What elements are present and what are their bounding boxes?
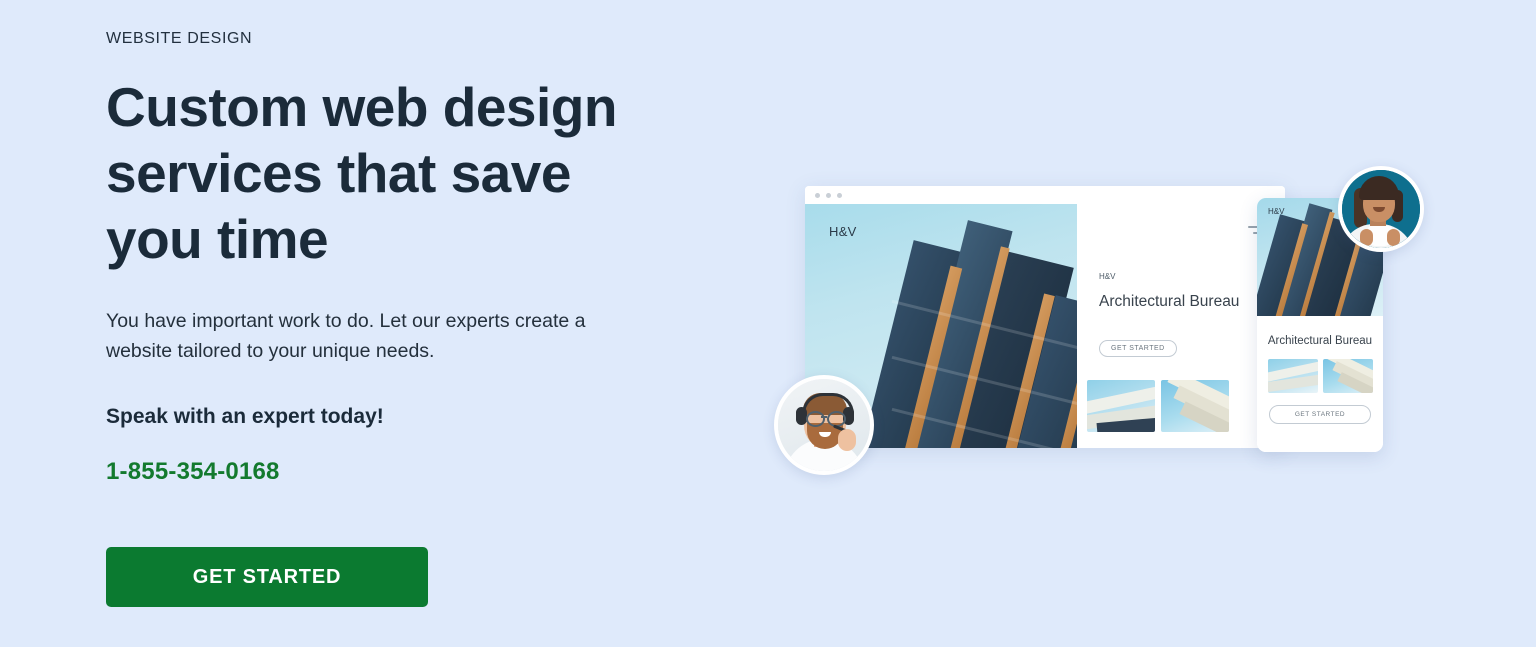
mobile-site-logo: H&V <box>1268 207 1284 216</box>
panel-get-started-button[interactable]: GET STARTED <box>1099 340 1177 357</box>
get-started-button[interactable]: GET STARTED <box>106 547 428 607</box>
mobile-content-panel: Architectural Bureau GET STARTED <box>1257 316 1383 452</box>
support-agent-avatar <box>774 375 874 475</box>
browser-viewport: H&V H&V Architectural Bureau GET STARTED <box>805 204 1285 448</box>
window-dot-icon <box>826 193 831 198</box>
site-logo: H&V <box>829 224 857 239</box>
architecture-thumbnail[interactable] <box>1323 359 1373 393</box>
window-dot-icon <box>815 193 820 198</box>
panel-title: Architectural Bureau <box>1099 292 1249 312</box>
browser-titlebar <box>805 186 1285 204</box>
desktop-browser-mockup: H&V H&V Architectural Bureau GET STARTED <box>805 186 1285 448</box>
architecture-thumbnail[interactable] <box>1087 380 1155 432</box>
window-dot-icon <box>837 193 842 198</box>
hero-subcopy: You have important work to do. Let our e… <box>106 306 606 366</box>
browser-content-panel: H&V Architectural Bureau GET STARTED <box>1077 204 1285 448</box>
mobile-get-started-button[interactable]: GET STARTED <box>1269 405 1371 424</box>
panel-thumbnail-row <box>1087 380 1229 432</box>
phone-number-link[interactable]: 1-855-354-0168 <box>106 457 280 487</box>
panel-logo: H&V <box>1099 272 1115 281</box>
customer-avatar <box>1338 166 1424 252</box>
hero-section: WEBSITE DESIGN Custom web design service… <box>0 0 1536 647</box>
eyebrow-label: WEBSITE DESIGN <box>106 30 726 48</box>
mobile-panel-title: Architectural Bureau <box>1257 316 1383 349</box>
page-title: Custom web design services that save you… <box>106 74 626 272</box>
mockup-group: H&V H&V Architectural Bureau GET STARTED <box>760 150 1460 510</box>
architecture-thumbnail[interactable] <box>1161 380 1229 432</box>
mobile-thumbnail-row <box>1257 359 1383 393</box>
hero-copy: WEBSITE DESIGN Custom web design service… <box>106 30 726 487</box>
speak-with-expert-label: Speak with an expert today! <box>106 403 726 431</box>
architecture-thumbnail[interactable] <box>1268 359 1318 393</box>
